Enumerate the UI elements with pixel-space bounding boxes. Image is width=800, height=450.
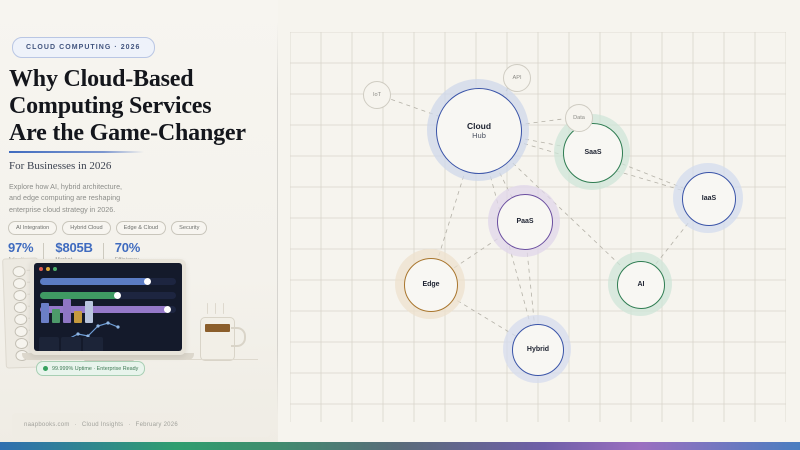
uptime-badge: 99.999% Uptime · Enterprise Ready (36, 361, 145, 376)
mini-bar-1 (52, 309, 60, 323)
slider-fill-0 (40, 278, 148, 285)
notebook-ring (15, 338, 28, 349)
footer-bar: naapbooks.com · Cloud Insights · Februar… (12, 413, 270, 437)
node-saas[interactable]: SaaS (563, 123, 623, 183)
body-paragraph: Explore how AI, hybrid architecture, and… (9, 181, 159, 215)
page-title: Why Cloud-Based Computing Services Are t… (9, 66, 299, 147)
notebook-ring (14, 326, 27, 337)
node-iaas-label: IaaS (702, 195, 716, 203)
slider-fill-1 (40, 292, 118, 299)
topic-chip-security[interactable]: Security (171, 221, 207, 235)
screen-tile-1 (61, 337, 81, 351)
window-controls-icon (39, 267, 57, 271)
title-underline (9, 151, 144, 153)
subtitle: For Businesses in 2026 (9, 160, 111, 172)
node-paas-label: PaaS (516, 218, 533, 226)
notebook-ring (12, 266, 25, 277)
node-paas[interactable]: PaaS (497, 194, 553, 250)
node-hybrid[interactable]: Hybrid (512, 324, 564, 376)
body-line-2: and edge computing are reshaping (9, 192, 159, 203)
footer-sep-1: · (75, 422, 77, 428)
diagram-panel: CloudHubSaaSIaaSPaaSEdgeAIHybridIoTAPIDa… (278, 0, 800, 450)
node-ai-label: AI (638, 281, 645, 289)
coffee-mug-icon (200, 317, 235, 361)
footer-site[interactable]: naapbooks.com (24, 422, 70, 428)
mini-bar-0 (41, 303, 49, 323)
kicker-badge: CLOUD COMPUTING · 2026 (12, 37, 155, 58)
screen-tile-2 (83, 337, 103, 351)
body-line-1: Explore how AI, hybrid architecture, (9, 181, 159, 192)
steam-line-3 (223, 303, 224, 314)
node-ai[interactable]: AI (617, 261, 665, 309)
node-iaas[interactable]: IaaS (682, 172, 736, 226)
steam-line-1 (207, 303, 208, 314)
notebook-ring (13, 278, 26, 289)
topic-chip-list: AI Integration Hybrid Cloud Edge & Cloud… (8, 221, 207, 235)
satellite-data[interactable]: Data (565, 104, 593, 132)
footer-sep-2: · (128, 422, 130, 428)
headline-line-2: Computing Services (9, 93, 299, 120)
slider-knob-2[interactable] (164, 306, 171, 313)
topic-chip-hybrid-cloud[interactable]: Hybrid Cloud (62, 221, 110, 235)
notebook-ring (13, 290, 26, 301)
mug-band (205, 324, 230, 332)
topic-chip-edge-cloud[interactable]: Edge & Cloud (116, 221, 167, 235)
slider-knob-0[interactable] (144, 278, 151, 285)
steam-line-2 (215, 303, 216, 314)
laptop-screen (34, 263, 182, 351)
uptime-badge-label: 99.999% Uptime · Enterprise Ready (52, 366, 138, 372)
node-hybrid-label: Hybrid (527, 346, 549, 354)
left-column: CLOUD COMPUTING · 2026 Why Cloud-Based C… (0, 0, 278, 450)
footer-section: Cloud Insights (82, 422, 124, 428)
window-dot-1[interactable] (46, 267, 50, 271)
notebook-ring (14, 314, 27, 325)
footer-date: February 2026 (136, 422, 178, 428)
mug-handle (231, 327, 246, 347)
hub-sublabel: Hub (472, 131, 486, 140)
window-dot-2[interactable] (53, 267, 57, 271)
node-saas-label: SaaS (584, 149, 601, 157)
headline-line-3: Are the Game-Changer (9, 120, 299, 147)
laptop-illustration (30, 259, 186, 369)
bottom-accent-bar (0, 442, 800, 450)
poster-root: CLOUD COMPUTING · 2026 Why Cloud-Based C… (0, 0, 800, 450)
satellite-api[interactable]: API (503, 64, 531, 92)
stat-efficiency-value: 70% (115, 241, 140, 255)
satellite-iot[interactable]: IoT (363, 81, 391, 109)
window-dot-0[interactable] (39, 267, 43, 271)
stat-adoption-value: 97% (8, 241, 33, 255)
screen-tile-0 (39, 337, 59, 351)
network-diagram-canvas: CloudHubSaaSIaaSPaaSEdgeAIHybridIoTAPIDa… (290, 32, 786, 422)
topic-chip-ai-integration[interactable]: AI Integration (8, 221, 57, 235)
desk-line (186, 359, 258, 360)
headline-line-1: Why Cloud-Based (9, 66, 299, 93)
node-edge[interactable]: Edge (404, 258, 458, 312)
stat-market-value: $805B (55, 241, 92, 255)
status-led-icon (43, 366, 48, 371)
node-edge-label: Edge (422, 281, 439, 289)
slider-knob-1[interactable] (114, 292, 121, 299)
notebook-ring (14, 302, 27, 313)
body-line-3: enterprise cloud strategy in 2026. (9, 204, 159, 215)
node-cloud-hub-label: Cloud (467, 122, 491, 132)
node-cloud-hub[interactable]: CloudHub (436, 88, 522, 174)
laptop-lid (30, 259, 186, 355)
